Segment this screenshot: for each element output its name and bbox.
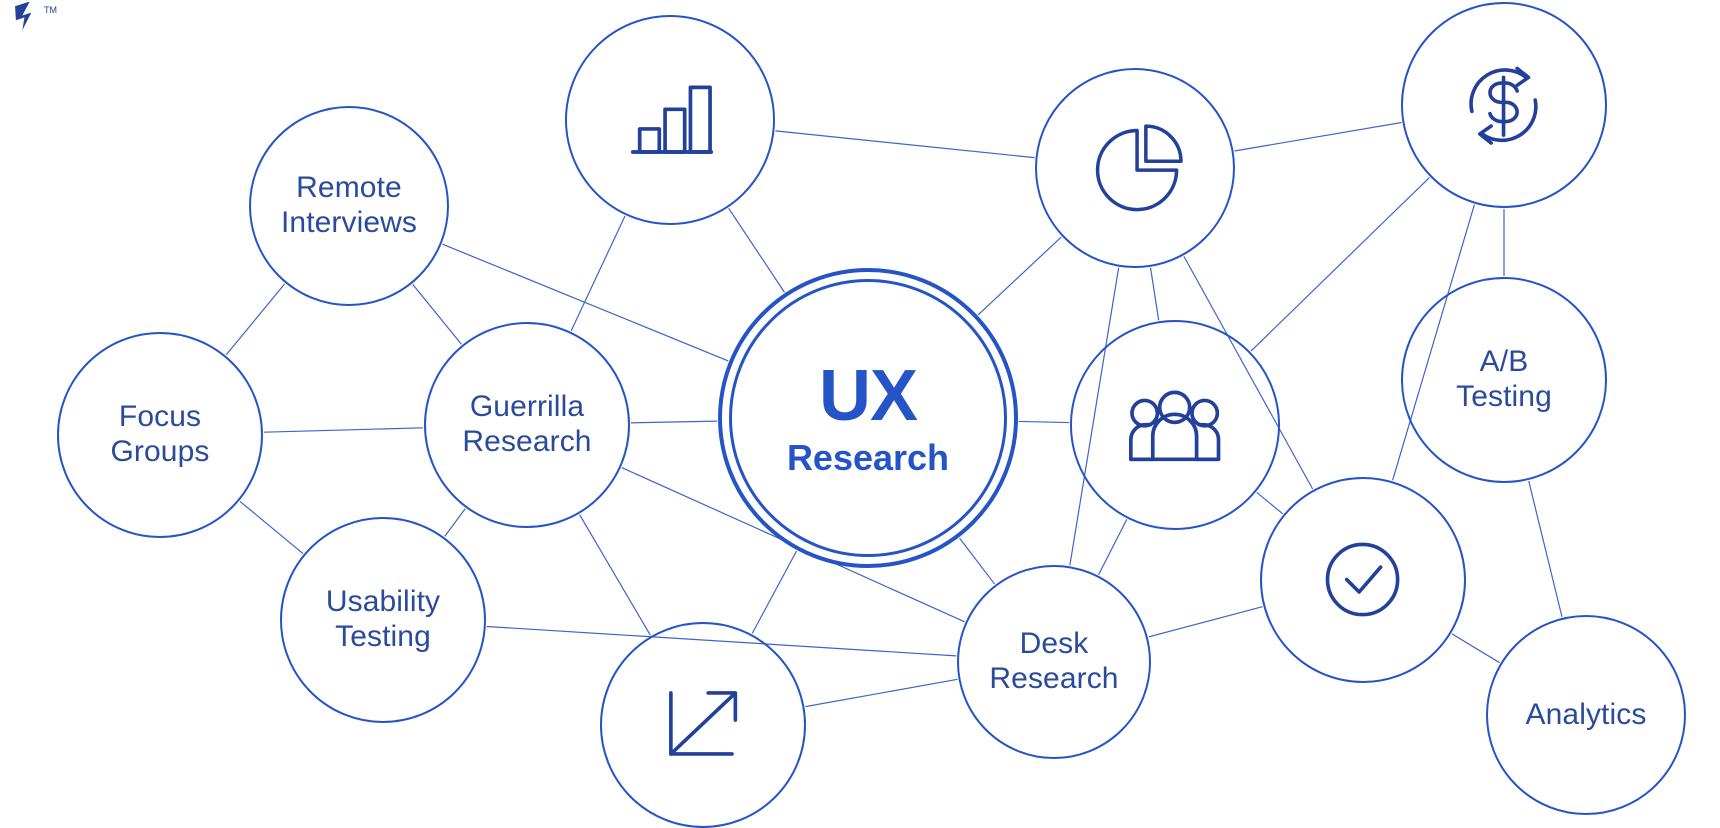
people-group-icon — [1117, 367, 1232, 482]
node-cost-roi[interactable] — [1401, 2, 1607, 208]
edge-cost-roi-to-user-group — [1251, 178, 1429, 352]
node-label-remote-interviews: Remote Interviews — [281, 171, 417, 241]
hub-label-line1: UX — [787, 360, 949, 432]
node-ab-testing[interactable]: A/B Testing — [1401, 277, 1607, 483]
edge-bar-chart-to-hub — [729, 208, 785, 292]
node-analytics[interactable]: Analytics — [1486, 615, 1686, 815]
edge-bar-chart-to-guerrilla-research — [571, 216, 625, 331]
diagram-canvas: TM Remote InterviewsFocus GroupsGuerrill… — [0, 0, 1720, 826]
edge-guerrilla-research-to-hub — [631, 421, 717, 423]
node-guerrilla-research[interactable]: Guerrilla Research — [424, 322, 630, 528]
edge-focus-groups-to-guerrilla-research — [264, 428, 423, 432]
node-focus-groups[interactable]: Focus Groups — [57, 332, 263, 538]
edge-guerrilla-research-to-usability-testing — [445, 509, 465, 537]
edge-pie-chart-to-hub — [978, 237, 1061, 315]
check-circle-icon — [1306, 523, 1419, 636]
node-label-focus-groups: Focus Groups — [111, 400, 210, 470]
node-validation-check[interactable] — [1260, 477, 1466, 683]
node-pie-chart[interactable] — [1035, 68, 1235, 268]
edge-ab-testing-to-analytics — [1529, 481, 1562, 617]
edge-pie-chart-to-cost-roi — [1235, 123, 1402, 151]
edge-remote-interviews-to-focus-groups — [226, 284, 285, 355]
node-label-guerrilla-research: Guerrilla Research — [462, 390, 591, 460]
edge-validation-check-to-analytics — [1452, 634, 1500, 663]
node-label-analytics: Analytics — [1526, 698, 1647, 733]
node-label-usability-testing: Usability Testing — [326, 585, 440, 655]
edge-desk-research-to-validation-check — [1149, 607, 1263, 637]
pie-chart-icon — [1080, 113, 1190, 223]
edge-hub-to-growth — [752, 551, 796, 633]
edge-guerrilla-research-to-growth — [580, 515, 651, 636]
node-desk-research[interactable]: Desk Research — [957, 565, 1151, 759]
node-usability-testing[interactable]: Usability Testing — [280, 517, 486, 723]
node-growth[interactable] — [600, 622, 806, 828]
hub-label-line2: Research — [787, 440, 949, 476]
edge-pie-chart-to-user-group — [1151, 268, 1159, 320]
node-bar-chart[interactable] — [565, 15, 775, 225]
edge-hub-to-desk-research — [960, 538, 995, 584]
edge-remote-interviews-to-guerrilla-research — [413, 284, 462, 344]
edge-user-group-to-desk-research — [1099, 519, 1127, 574]
edge-user-group-to-validation-check — [1257, 492, 1283, 513]
node-label-ab-testing: A/B Testing — [1456, 345, 1552, 415]
edge-growth-to-desk-research — [805, 679, 957, 706]
dollar-refresh-icon — [1447, 48, 1560, 161]
hub-label: UX Research — [787, 360, 949, 476]
edge-bar-chart-to-pie-chart — [775, 131, 1034, 158]
edge-focus-groups-to-usability-testing — [240, 501, 303, 553]
node-remote-interviews[interactable]: Remote Interviews — [249, 106, 449, 306]
node-user-group[interactable] — [1070, 320, 1280, 530]
hub-node-ux-research[interactable]: UX Research — [718, 268, 1018, 568]
edge-user-group-to-hub — [1019, 421, 1069, 422]
bar-chart-icon — [612, 62, 727, 177]
node-label-desk-research: Desk Research — [989, 627, 1118, 697]
growth-arrow-icon — [646, 668, 759, 781]
